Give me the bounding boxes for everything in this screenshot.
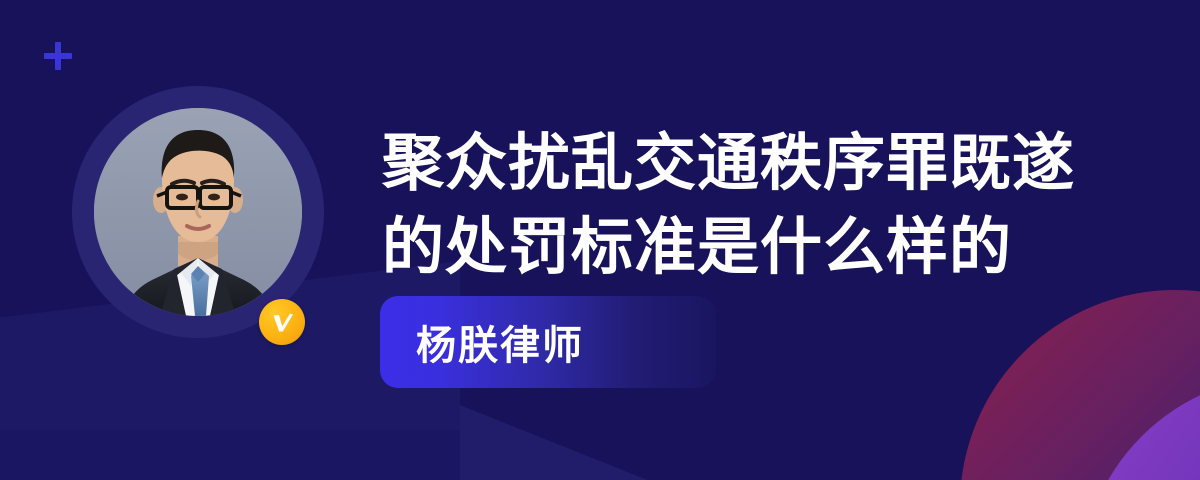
avatar bbox=[72, 86, 324, 338]
title-line-1: 聚众扰乱交通秩序罪既遂 bbox=[382, 122, 1082, 206]
author-badge[interactable]: 杨朕律师 bbox=[380, 296, 716, 388]
author-name: 杨朕律师 bbox=[416, 313, 584, 371]
plus-icon bbox=[44, 42, 72, 70]
verified-badge bbox=[259, 299, 305, 345]
legal-qa-banner: 聚众扰乱交通秩序罪既遂 的处罚标准是什么样的 杨朕律师 bbox=[0, 0, 1200, 480]
page-title: 聚众扰乱交通秩序罪既遂 的处罚标准是什么样的 bbox=[382, 122, 1082, 290]
avatar-photo bbox=[94, 108, 302, 316]
decor-polygon-left-band bbox=[0, 430, 470, 480]
decor-polygon-mid-triangle bbox=[460, 405, 760, 480]
title-line-2: 的处罚标准是什么样的 bbox=[382, 206, 1082, 290]
